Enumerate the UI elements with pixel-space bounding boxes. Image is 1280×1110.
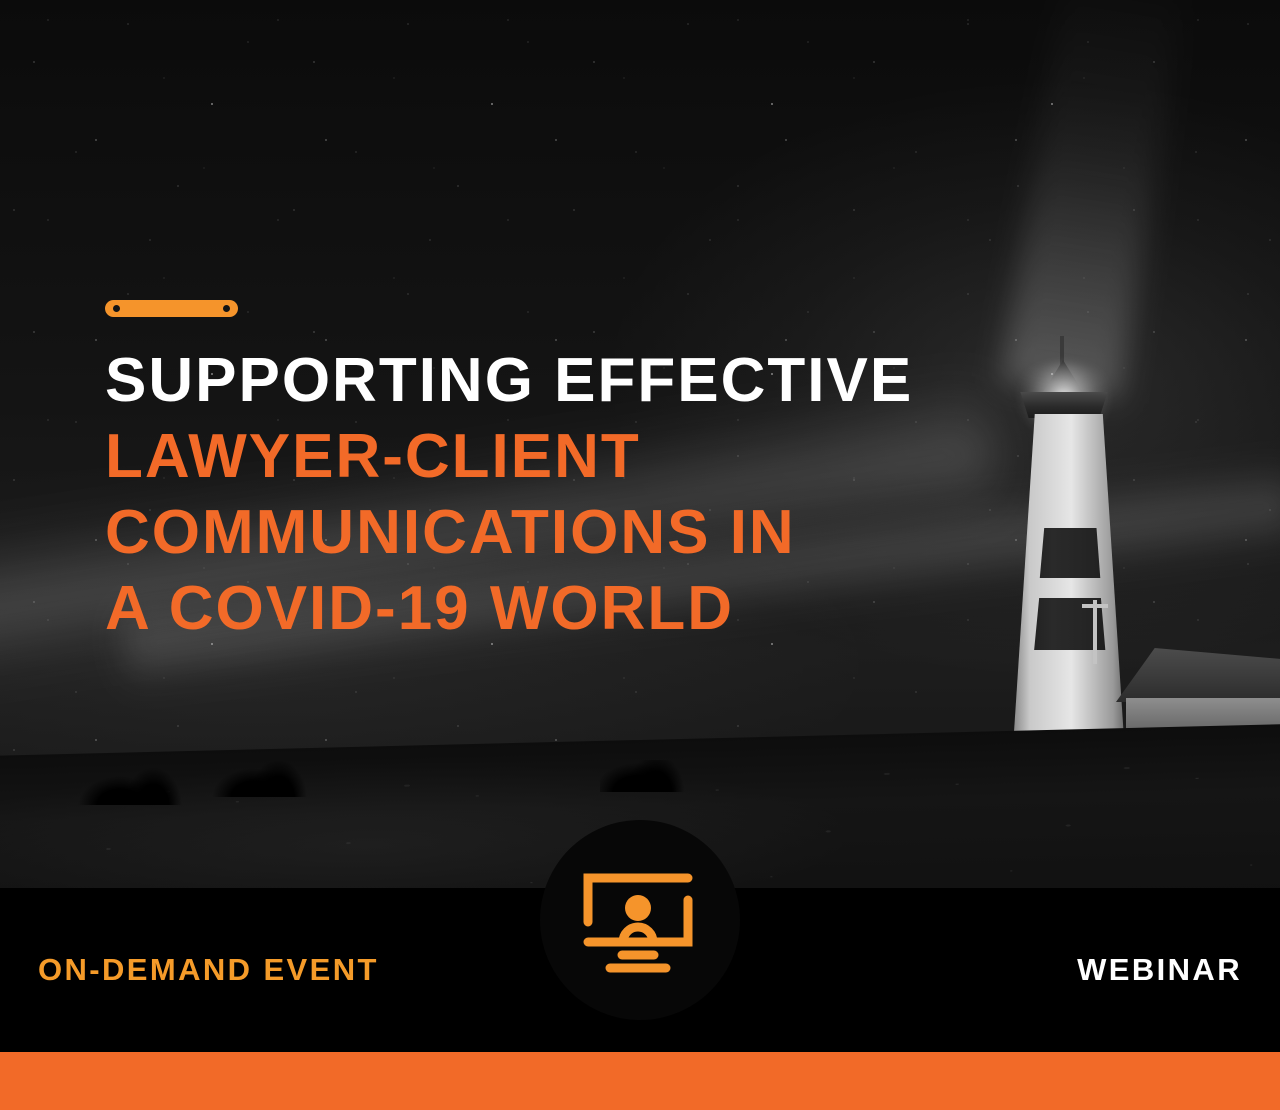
accent-rule-dot-left <box>113 305 120 312</box>
title-line-4: A COVID-19 WORLD <box>105 571 1005 647</box>
silhouette-grass-mid <box>210 755 320 797</box>
silhouette-bush-left <box>60 745 210 805</box>
format-label: WEBINAR <box>1077 952 1242 988</box>
webinar-monitor-presenter-icon <box>570 860 710 980</box>
silhouette-grass-right <box>600 760 690 792</box>
antenna-mast <box>1082 600 1108 664</box>
bottom-accent-strip <box>0 1052 1280 1110</box>
title-line-3: COMMUNICATIONS IN <box>105 495 1005 571</box>
title-line-2: LAWYER-CLIENT <box>105 419 1005 495</box>
building-roof <box>1116 648 1280 702</box>
webinar-promo-card: SUPPORTING EFFECTIVE LAWYER-CLIENT COMMU… <box>0 0 1280 1110</box>
accent-rule-dot-right <box>223 305 230 312</box>
accent-rule <box>105 300 238 317</box>
headline-block: SUPPORTING EFFECTIVE LAWYER-CLIENT COMMU… <box>105 300 1005 647</box>
title-line-1: SUPPORTING EFFECTIVE <box>105 343 1005 419</box>
webinar-badge <box>540 820 740 1020</box>
event-type-label: ON-DEMAND EVENT <box>38 952 379 988</box>
